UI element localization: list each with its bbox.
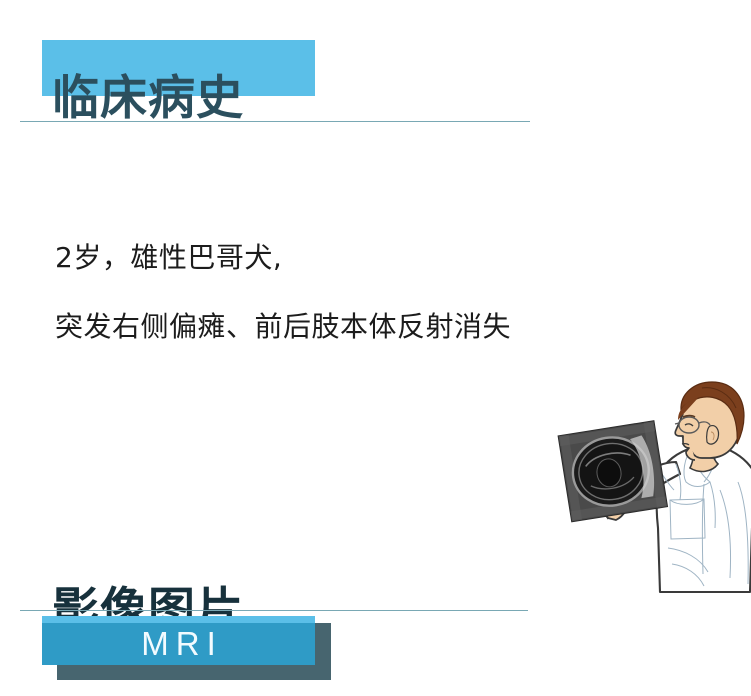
case-line-1: 2岁，雄性巴哥犬, <box>55 243 675 272</box>
slide-canvas: 临床病史 2岁，雄性巴哥犬, 突发右侧偏瘫、前后肢本体反射消失 <box>0 0 751 696</box>
clinical-history-heading: 临床病史 <box>52 75 472 122</box>
imaging-section: 影像图片 MRI <box>0 520 751 696</box>
clinical-history-divider <box>20 121 530 122</box>
clinical-history-section: 临床病史 <box>0 0 751 140</box>
mri-banner-label: MRI <box>42 623 315 665</box>
imaging-divider <box>20 610 528 611</box>
case-description: 2岁，雄性巴哥犬, 突发右侧偏瘫、前后肢本体反射消失 <box>55 215 675 370</box>
case-line-2: 突发右侧偏瘫、前后肢本体反射消失 <box>55 312 675 341</box>
